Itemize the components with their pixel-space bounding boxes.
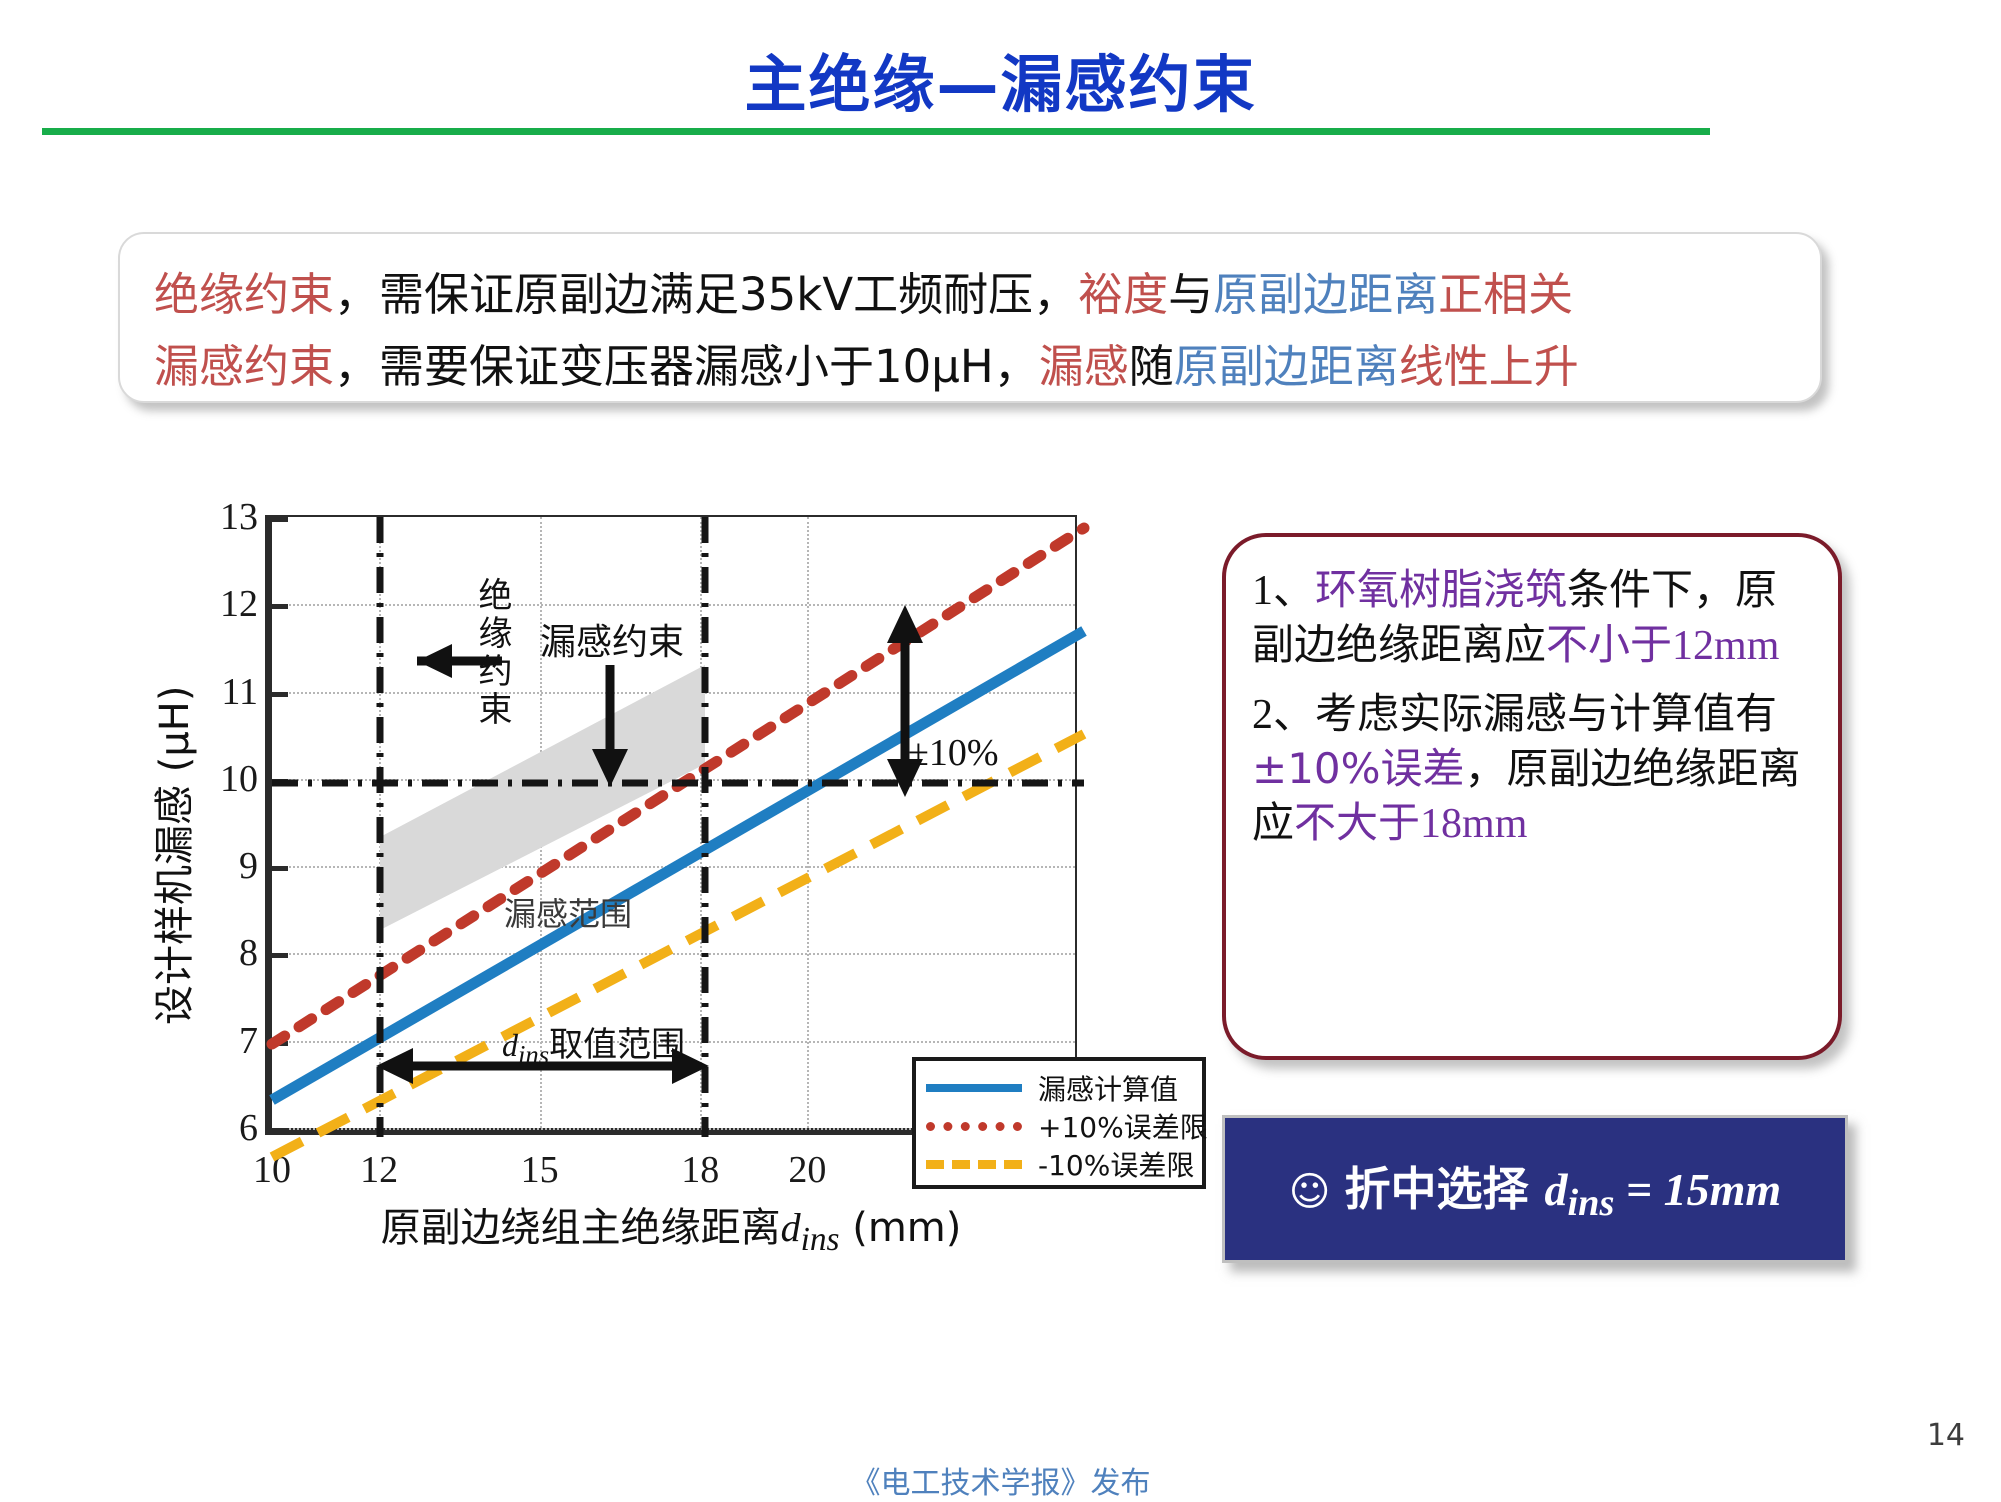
conclusion-1-seg-4: 12mm (1672, 623, 1779, 669)
xtick-label-18: 18 (681, 1128, 719, 1192)
chart-y-axis-label: 设计样机漏感 (μH) (142, 565, 200, 1025)
callout-l1-seg-2: 裕度 (1078, 268, 1168, 321)
legend-row-plus10: +10%误差限 (926, 1107, 1192, 1145)
xlabel-post: (mm) (840, 1205, 962, 1251)
callout-l2-seg-0: 漏感约束 (154, 340, 334, 393)
conclusion-2-seg-5: 18mm (1420, 801, 1527, 847)
callout-l2-seg-2: 漏感 (1039, 340, 1129, 393)
conclusion-2-num: 2、 (1252, 692, 1315, 738)
slide-root: 主绝缘—漏感约束 绝缘约束，需保证原副边满足35kV工频耐压，裕度与原副边距离正… (0, 0, 2001, 1501)
ytick-label-9: 9 (239, 844, 272, 888)
ytick-label-7: 7 (239, 1019, 272, 1063)
legend-row-calculated: 漏感计算值 (926, 1069, 1192, 1107)
page-title: 主绝缘—漏感约束 (0, 34, 2001, 124)
xtick-label-12: 12 (360, 1128, 398, 1192)
callout-l1-seg-4: 原副边距离 (1213, 268, 1438, 321)
callout-l2-seg-4: 原副边距离 (1174, 340, 1399, 393)
conclusion-1-num: 1、 (1252, 568, 1315, 614)
xtick-label-10: 10 (253, 1128, 291, 1192)
callout-l1-seg-0: 绝缘约束 (154, 268, 334, 321)
conclusion-item-1: 1、环氧树脂浇筑条件下，原副边绝缘距离应不小于12mm (1252, 563, 1814, 673)
annotation-leakage-constraint: 漏感约束 (540, 613, 684, 665)
annotation-dins-post: 取值范围 (549, 1027, 685, 1064)
ytick-label-13: 13 (220, 495, 272, 539)
legend-swatch-dashed-yellow-icon (926, 1160, 1022, 1169)
chart-x-axis-label: 原副边绕组主绝缘距离dins (mm) (265, 1195, 1077, 1259)
xlabel-var: d (781, 1205, 801, 1250)
xlabel-pre: 原副边绕组主绝缘距离 (381, 1205, 781, 1251)
legend-label-minus10: -10%误差限 (1038, 1144, 1194, 1184)
legend-swatch-solid-blue-icon (926, 1084, 1022, 1092)
final-choice-box: ☺折中选择 dins = 15mm (1222, 1115, 1848, 1263)
callout-l2-seg-1: ，需要保证变压器漏感小于10μH， (334, 340, 1039, 393)
ytick-label-11: 11 (221, 670, 272, 714)
page-number: 14 (1927, 1418, 1965, 1453)
conclusion-2-seg-2: ±10%误差 (1252, 744, 1465, 793)
annotation-plus-minus-10-percent: ±10% (908, 731, 999, 775)
conclusion-box: 1、环氧树脂浇筑条件下，原副边绝缘距离应不小于12mm 2、考虑实际漏感与计算值… (1222, 533, 1842, 1060)
final-choice-text: ☺折中选择 dins = 15mm (1289, 1153, 1781, 1225)
callout-line-1: 绝缘约束，需保证原副边满足35kV工频耐压，裕度与原副边距离正相关 (154, 272, 1573, 317)
annotation-insulation-constraint: 绝缘约束 (468, 577, 517, 729)
ytick-label-10: 10 (220, 757, 272, 801)
callout-l1-seg-1: ，需保证原副边满足35kV工频耐压， (334, 268, 1078, 321)
final-choice-pre: 折中选择 (1345, 1162, 1545, 1216)
legend-swatch-dotted-red-icon (926, 1122, 1022, 1131)
annotation-dins-range: dins取值范围 (502, 1017, 685, 1070)
legend-label-plus10: +10%误差限 (1038, 1106, 1208, 1146)
insulation-leakage-constraint-callout: 绝缘约束，需保证原副边满足35kV工频耐压，裕度与原副边距离正相关 漏感约束，需… (118, 232, 1822, 403)
legend-label-calculated: 漏感计算值 (1038, 1068, 1178, 1108)
xtick-label-15: 15 (521, 1128, 559, 1192)
callout-l2-seg-5: 线性上升 (1399, 340, 1579, 393)
annotation-leakage-range: 漏感范围 (504, 889, 632, 935)
conclusion-item-2: 2、考虑实际漏感与计算值有±10%误差，原副边绝缘距离应不大于18mm (1252, 687, 1814, 851)
xlabel-sub: ins (801, 1221, 840, 1258)
conclusion-2-seg-1: 考虑实际漏感与计算值有 (1315, 689, 1777, 738)
final-choice-sub: ins (1568, 1182, 1615, 1224)
publisher-footer: 《电工技术学报》发布 (0, 1458, 2001, 1502)
conclusion-2-seg-4: 不大于 (1294, 798, 1420, 847)
annotation-dins-var: d (502, 1027, 518, 1063)
xtick-label-20: 20 (788, 1128, 826, 1192)
callout-l2-seg-3: 随 (1129, 340, 1174, 393)
legend-row-minus10: -10%误差限 (926, 1145, 1192, 1183)
final-choice-var: d (1545, 1164, 1568, 1215)
final-choice-post: = 15mm (1614, 1164, 1781, 1215)
ytick-label-8: 8 (239, 931, 272, 975)
chart-plot-area: 13 12 11 10 9 8 7 6 10 12 15 18 20 25 (265, 515, 1077, 1135)
callout-l1-seg-3: 与 (1168, 268, 1213, 321)
conclusion-1-seg-3: 不小于 (1546, 620, 1672, 669)
smiley-icon: ☺ (1289, 1169, 1331, 1215)
conclusion-1-seg-1: 环氧树脂浇筑 (1315, 565, 1567, 614)
annotation-dins-sub: ins (518, 1039, 549, 1069)
title-underline-rule (42, 128, 1710, 135)
callout-line-2: 漏感约束，需要保证变压器漏感小于10μH，漏感随原副边距离线性上升 (154, 344, 1579, 389)
leakage-inductance-chart: 设计样机漏感 (μH) 13 12 (150, 495, 1150, 1185)
chart-legend: 漏感计算值 +10%误差限 -10%误差限 (912, 1057, 1206, 1189)
callout-l1-seg-5: 正相关 (1438, 268, 1573, 321)
ytick-label-12: 12 (220, 582, 272, 626)
